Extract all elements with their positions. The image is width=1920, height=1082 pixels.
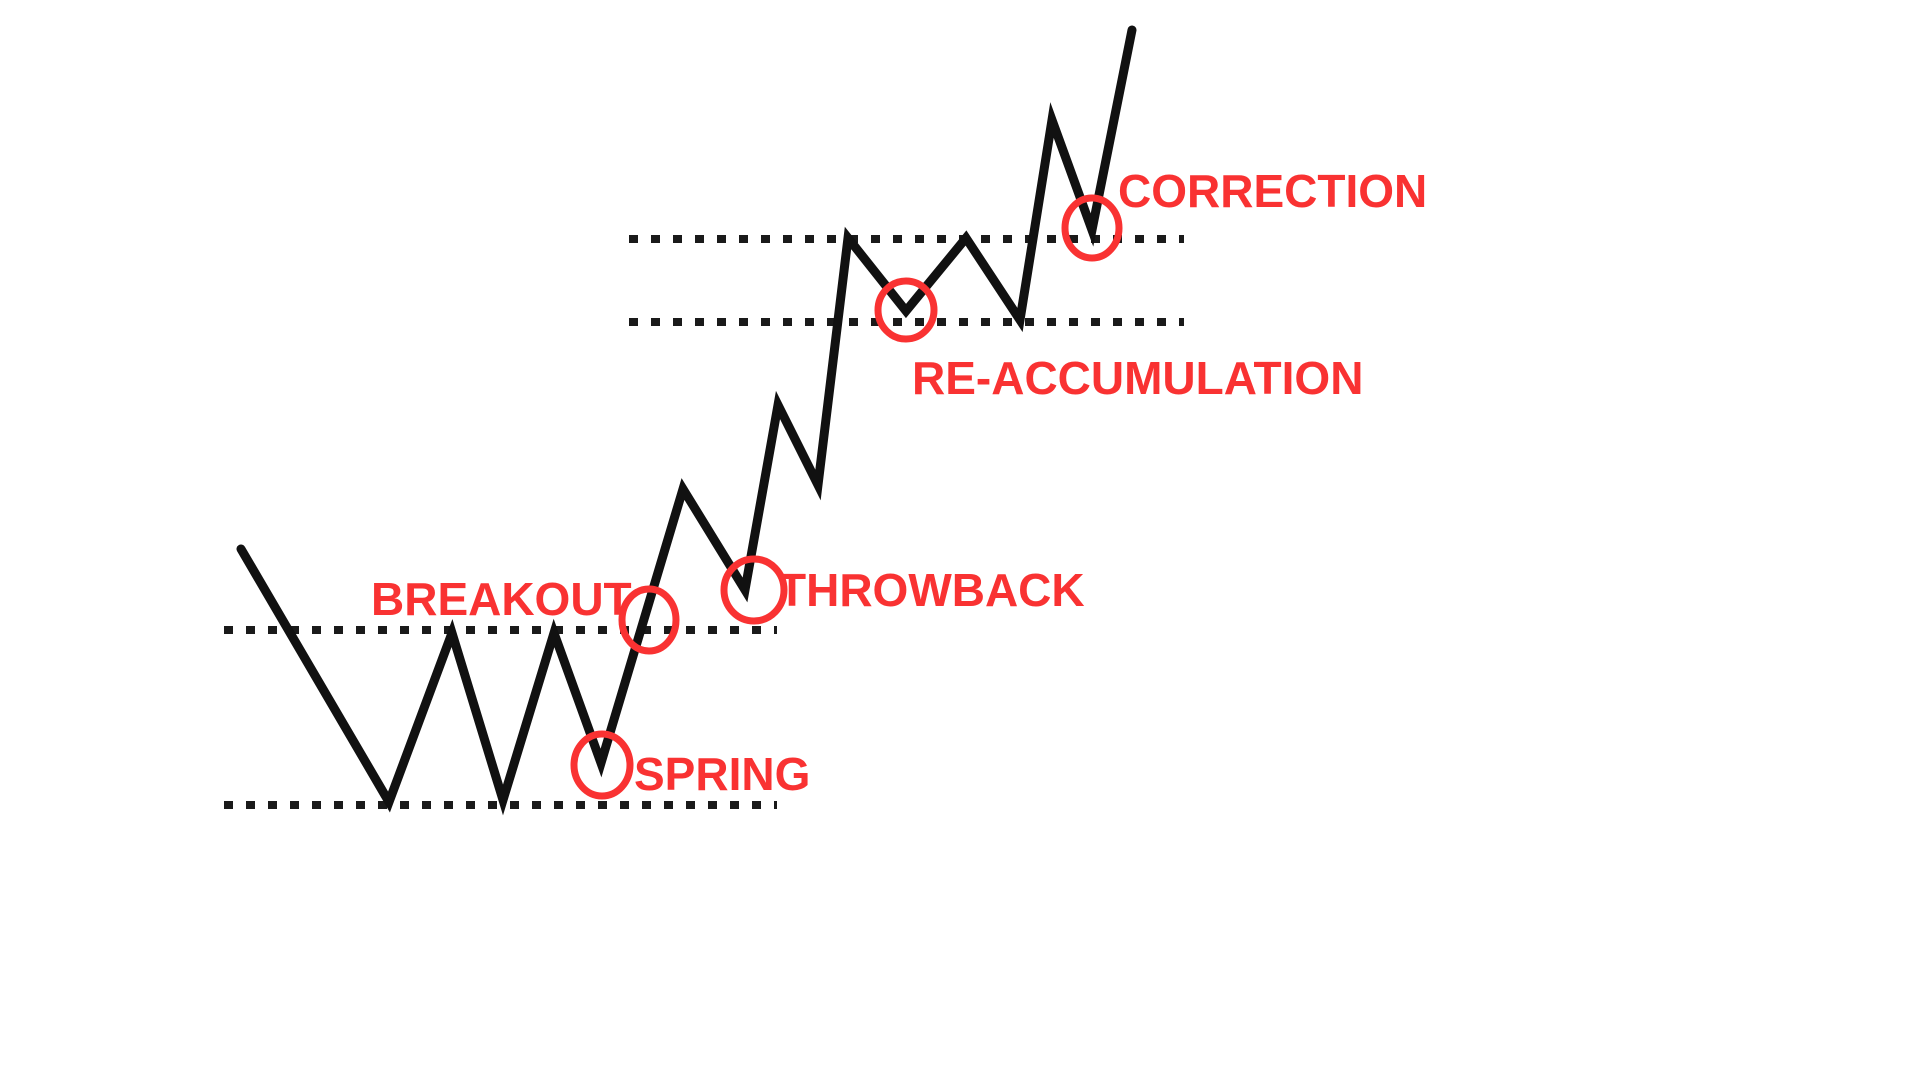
label-re-accumulation: RE-ACCUMULATION (912, 352, 1363, 404)
chart-canvas: BREAKOUTSPRINGTHROWBACKRE-ACCUMULATIONCO… (0, 0, 1920, 1082)
label-breakout: BREAKOUT (371, 573, 632, 625)
label-correction: CORRECTION (1118, 165, 1427, 217)
label-spring: SPRING (634, 748, 810, 800)
chart-background (0, 0, 1920, 1082)
wyckoff-schematic-svg: BREAKOUTSPRINGTHROWBACKRE-ACCUMULATIONCO… (0, 0, 1920, 1082)
label-throwback: THROWBACK (778, 564, 1085, 616)
